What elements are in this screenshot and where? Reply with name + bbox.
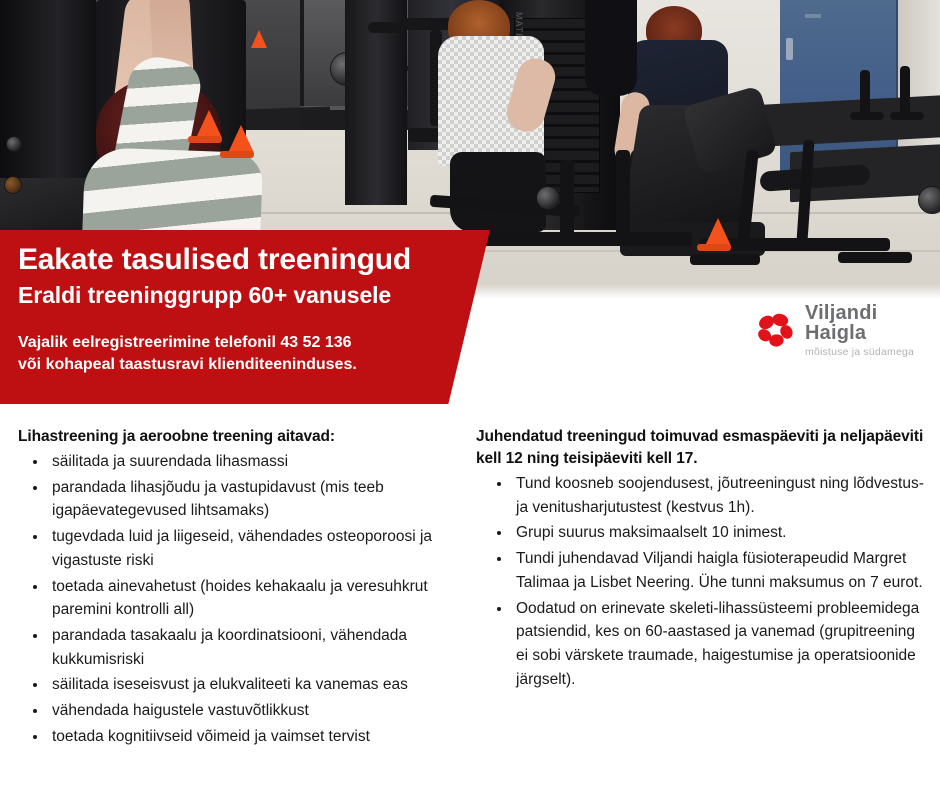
logo-text-block: Viljandi Haigla mõistuse ja südamega [805,303,940,358]
right-column-heading: Juhendatud treeningud toimuvad esmaspäev… [476,426,924,470]
banner-note-line-1: Vajalik eelregistreerimine telefonil 43 … [18,332,357,354]
photo-machine-base [838,252,912,263]
list-item: vähendada haigustele vastuvõtlikkust [48,699,452,723]
list-item: toetada kognitiivseid võimeid ja vaimset… [48,725,452,749]
banner-subtitle: Eraldi treeninggrupp 60+ vanusele [18,282,391,309]
poster: MATRIX [0,0,940,788]
banner-note-line-2: või kohapeal taastusravi klienditeenindu… [18,354,357,376]
photo-machine-pulley [918,186,940,214]
photo-traffic-cone-base [188,136,222,143]
photo-machine-pulley [536,186,560,210]
photo-traffic-cone [196,110,222,138]
photo-person-background [585,0,637,96]
content-area: Lihastreening ja aeroobne treening aitav… [0,408,940,788]
photo-machine-leg [560,160,574,242]
left-column-heading: Lihastreening ja aeroobne treening aitav… [18,426,452,448]
banner-title: Eakate tasulised treeningud [18,243,411,277]
viljandi-haigla-logo: Viljandi Haigla mõistuse ja südamega [757,303,940,358]
logo-name: Viljandi Haigla [805,303,940,343]
list-item: säilitada iseseisvust ja elukvaliteeti k… [48,673,452,697]
benefits-list: säilitada ja suurendada lihasmassi paran… [18,450,452,748]
list-item: Oodatud on erinevate skeleti-lihassüstee… [512,597,924,692]
list-item: toetada ainevahetust (hoides kehakaalu j… [48,575,452,622]
photo-machine-leg [616,150,630,242]
photo-traffic-cone-base [220,151,254,158]
banner-registration-note: Vajalik eelregistreerimine telefonil 43 … [18,332,357,375]
photo-traffic-cone-base [697,244,731,251]
list-item: Tund koosneb soojendusest, jõutreeningus… [512,472,924,519]
schedule-details-list: Tund koosneb soojendusest, jõutreeningus… [476,472,924,691]
red-banner: Eakate tasulised treeningud Eraldi treen… [0,230,490,404]
flower-petals-icon [757,311,795,349]
right-column: Juhendatud treeningud toimuvad esmaspäev… [468,408,940,788]
list-item: tugevdada luid ja liigeseid, vähendades … [48,525,452,572]
logo-tagline: mõistuse ja südamega [805,347,940,358]
photo-traffic-cone [251,30,267,48]
list-item: parandada lihasjõudu ja vastupidavust (m… [48,476,452,523]
list-item: säilitada ja suurendada lihasmassi [48,450,452,474]
photo-machine-base [690,254,760,265]
list-item: parandada tasakaalu ja koordinatsiooni, … [48,624,452,671]
list-item: Tundi juhendavad Viljandi haigla füsiote… [512,547,924,594]
list-item: Grupi suurus maksimaalselt 10 inimest. [512,521,924,545]
left-column: Lihastreening ja aeroobne treening aitav… [0,408,468,788]
photo-traffic-cone [228,125,254,153]
photo-traffic-cone [705,218,731,246]
